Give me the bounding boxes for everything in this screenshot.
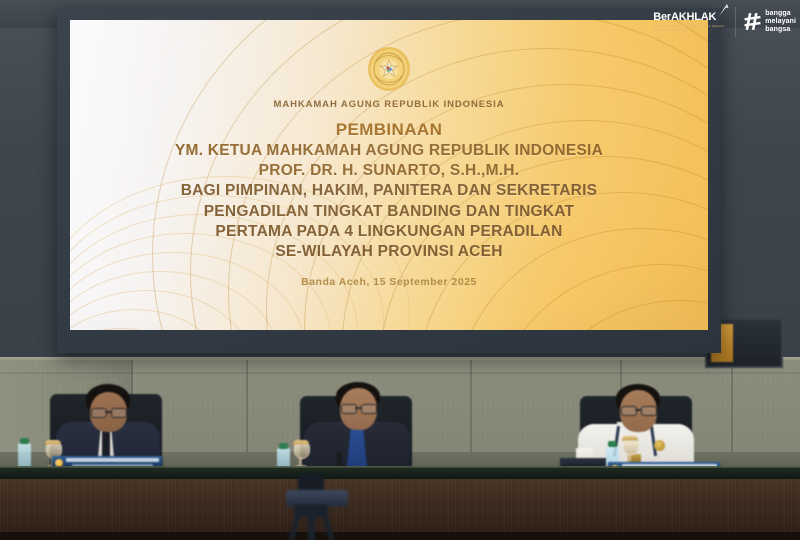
video-camera-on-tripod (268, 486, 378, 540)
presentation-slide: MAHKAMAH AGUNG REPUBLIK INDONESIA PEMBIN… (70, 20, 708, 330)
conference-room-scene: MAHKAMAH AGUNG REPUBLIK INDONESIA PEMBIN… (0, 0, 800, 540)
tripod-leg-left (289, 517, 299, 540)
bottle-cap-left (20, 438, 29, 444)
bangga-line-3: bangsa (765, 26, 796, 34)
slide-line-1: YM. KETUA MAHKAMAH AGUNG REPUBLIK INDONE… (175, 141, 603, 161)
bangga-melayani-bangsa-logo: bangga melayani bangsa (744, 10, 796, 33)
slide-line-4: PENGADILAN TINGKAT BANDING DAN TINGKAT (175, 202, 603, 222)
goblet-stem-right (628, 453, 631, 461)
dais-base-shadow (0, 532, 800, 540)
slide-line-3: BAGI PIMPINAN, HAKIM, PANITERA DAN SEKRE… (175, 181, 603, 201)
slide-line-6: SE-WILAYAH PROVINSI ACEH (175, 242, 603, 262)
glasses-right (620, 406, 658, 415)
berakhlak-logo: BerAKHLAK Berorientasi Pelayanan, Akunta… (653, 6, 727, 38)
shoulder-insignia-right (654, 440, 665, 451)
slide-line-2: PROF. DR. H. SUNARTO, S.H.,M.H. (175, 161, 603, 181)
glasses-center (340, 404, 378, 413)
bottle-cap-right (608, 441, 617, 447)
goblet-bowl-right (623, 440, 639, 455)
goblet-bowl-center (294, 444, 310, 459)
slide-title-block: PEMBINAAN YM. KETUA MAHKAMAH AGUNG REPUB… (175, 119, 603, 262)
berakhlak-tagline: Berorientasi Pelayanan, Akuntabel, Kompe… (653, 25, 727, 33)
slide-heading: PEMBINAAN (175, 119, 603, 141)
hash-arrow-mark-icon (744, 12, 761, 31)
bangga-wordmark: bangga melayani bangsa (765, 10, 796, 33)
nameplate-line1-left (66, 458, 159, 462)
glasses-left (90, 408, 128, 417)
dais-front-panel (0, 479, 800, 540)
dais-wood-grain (0, 479, 800, 540)
bangga-line-1: bangga (765, 10, 796, 18)
goblet-stem-center (299, 457, 302, 465)
slide-date-location: Banda Aceh, 15 September 2025 (301, 276, 477, 288)
screen-bevel: MAHKAMAH AGUNG REPUBLIK INDONESIA PEMBIN… (70, 20, 708, 330)
camera-viewfinder (298, 474, 324, 490)
projection-screen-frame: MAHKAMAH AGUNG REPUBLIK INDONESIA PEMBIN… (57, 8, 721, 353)
corner-logo-group: BerAKHLAK Berorientasi Pelayanan, Akunta… (653, 6, 796, 38)
bangga-line-2: melayani (765, 18, 796, 26)
berakhlak-swoosh-icon (718, 3, 730, 17)
official-center (286, 372, 466, 478)
tripod-leg-right (323, 516, 334, 540)
berakhlak-wordmark: BerAKHLAK (653, 12, 727, 23)
tripod-leg-center (308, 517, 315, 540)
logo-divider (735, 7, 736, 37)
bottle-cap-center (279, 443, 288, 449)
mahkamah-agung-emblem (366, 46, 412, 92)
slide-line-5: PERTAMA PADA 4 LINGKUNGAN PERADILAN (175, 222, 603, 242)
slide-organization-line: MAHKAMAH AGUNG REPUBLIK INDONESIA (274, 99, 505, 110)
